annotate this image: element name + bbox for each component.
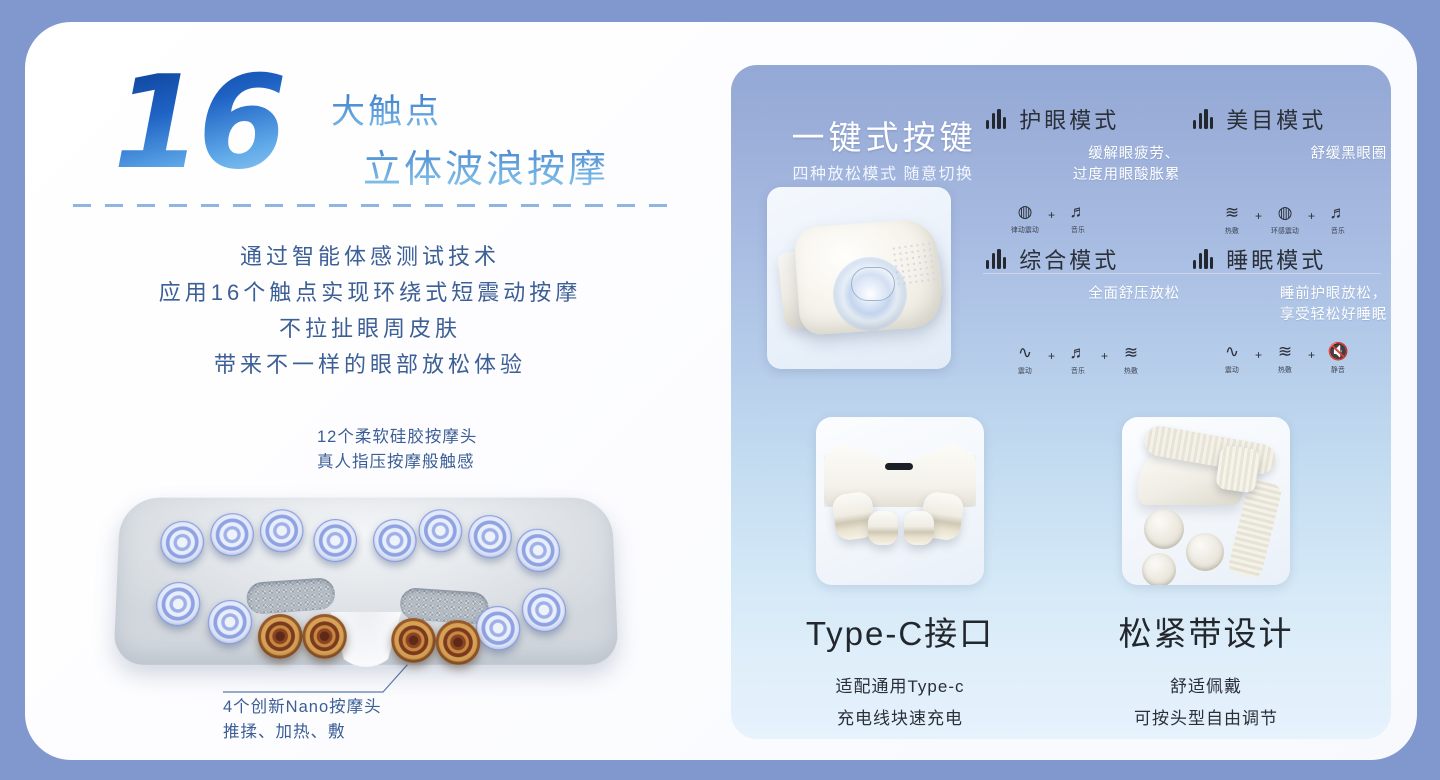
plus-separator: + bbox=[1048, 343, 1055, 366]
silicone-pad bbox=[516, 529, 561, 572]
mode-description: 缓解眼疲劳、 过度用眼酸胀累 bbox=[986, 144, 1186, 186]
feature-title: Type-C接口 bbox=[755, 607, 1045, 655]
plus-separator: + bbox=[1255, 203, 1262, 226]
feature-icon-label: 环感震动 bbox=[1271, 225, 1299, 235]
plus-separator: + bbox=[1048, 202, 1055, 225]
massage-knob bbox=[868, 511, 898, 545]
silicone-pad bbox=[160, 521, 205, 564]
vibration-icon: ∿ bbox=[1225, 342, 1239, 362]
mode-card-eye-care: 护眼模式 缓解眼疲劳、 过度用眼酸胀累 ◍ 律动震动 + ♬ bbox=[986, 103, 1186, 234]
mode-feature-icons: ◍ 律动震动 + ♬ 音乐 bbox=[986, 202, 1186, 234]
feature-icon-item: ◍ 环感震动 bbox=[1268, 203, 1302, 235]
silicone-pad bbox=[521, 588, 567, 632]
music-icon: ♬ bbox=[1330, 203, 1347, 223]
feature-icon-label: 律动震动 bbox=[1011, 224, 1039, 234]
nano-pad bbox=[258, 614, 303, 659]
headline-line2: 立体波浪按摩 bbox=[363, 138, 609, 193]
description-line-2: 应用16个触点实现环绕式短震动按摩 bbox=[25, 276, 715, 309]
feature-card-type-c: Type-C接口 适配通用Type-c 充电线块速充电 bbox=[755, 417, 1045, 735]
massage-knob bbox=[1186, 533, 1224, 571]
sound-wave-icon bbox=[986, 249, 1006, 269]
silicone-pad bbox=[207, 600, 252, 644]
mode-card-comprehensive: 综合模式 全面舒压放松 ∿ 震动 + ♬ 音乐 bbox=[986, 243, 1186, 375]
silicone-pad bbox=[210, 513, 255, 556]
sound-wave-icon bbox=[1193, 249, 1213, 269]
mode-desc-line: 全面舒压放松 bbox=[986, 284, 1180, 305]
sound-wave-icon bbox=[1193, 109, 1213, 129]
silicone-pad bbox=[468, 515, 513, 558]
feature-desc-line: 充电线块速充电 bbox=[755, 703, 1045, 735]
description-block: 通过智能体感测试技术 应用16个触点实现环绕式短震动按摩 不拉扯眼周皮肤 带来不… bbox=[25, 240, 715, 384]
mask-vent-left bbox=[246, 577, 336, 615]
description-line-3: 不拉扯眼周皮肤 bbox=[25, 312, 715, 345]
mode-description: 舒缓黑眼圈 bbox=[1193, 144, 1391, 165]
feature-icon-item: ≋ 热敷 bbox=[1114, 343, 1148, 375]
mode-feature-icons: ∿ 震动 + ≋ 热敷 + 🔇 静音 bbox=[1193, 342, 1391, 374]
mode-feature-icons: ∿ 震动 + ♬ 音乐 + ≋ 热敷 bbox=[986, 343, 1186, 375]
callout-nano-line2: 推揉、加热、敷 bbox=[223, 720, 382, 745]
music-icon: ♬ bbox=[1070, 343, 1087, 363]
description-line-4: 带来不一样的眼部放松体验 bbox=[25, 348, 715, 381]
massage-knob bbox=[904, 511, 934, 545]
silicone-pad bbox=[260, 509, 304, 552]
feature-icon-label: 震动 bbox=[1018, 365, 1032, 375]
feature-title: 松紧带设计 bbox=[1061, 607, 1351, 655]
mode-description: 睡前护眼放松， 享受轻松好睡眠 bbox=[1193, 284, 1391, 326]
feature-desc-line: 可按头型自由调节 bbox=[1061, 703, 1351, 735]
feature-icon-label: 音乐 bbox=[1071, 365, 1085, 375]
callout-nano-heads: 4个创新Nano按摩头 推揉、加热、敷 bbox=[223, 695, 382, 745]
heat-icon: ≋ bbox=[1124, 343, 1138, 363]
mode-desc-line: 睡前护眼放松， bbox=[1193, 284, 1387, 305]
eye-massager-product-image bbox=[117, 490, 617, 680]
feature-card-elastic-strap: 松紧带设计 舒适佩戴 可按头型自由调节 bbox=[1061, 417, 1351, 735]
music-icon: ♬ bbox=[1070, 202, 1087, 222]
silicone-pad bbox=[155, 582, 201, 626]
mode-name: 睡眠模式 bbox=[1226, 243, 1326, 275]
device-front-photo bbox=[767, 187, 951, 369]
feature-icon-item: ≋ 热敷 bbox=[1215, 203, 1249, 235]
type-c-photo bbox=[816, 417, 984, 585]
mode-name: 美目模式 bbox=[1226, 103, 1326, 135]
silicone-pad bbox=[418, 509, 462, 552]
vibration-icon: ∿ bbox=[1018, 343, 1032, 363]
surround-vibration-icon: ◍ bbox=[1278, 203, 1293, 223]
plus-separator: + bbox=[1308, 203, 1315, 226]
nano-pad bbox=[391, 618, 436, 663]
plus-separator: + bbox=[1308, 342, 1315, 365]
infographic-page: 16 大触点 立体波浪按摩 通过智能体感测试技术 应用16个触点实现环绕式短震动… bbox=[0, 0, 1440, 780]
mode-description: 全面舒压放松 bbox=[986, 284, 1186, 305]
feature-desc-line: 舒适佩戴 bbox=[1061, 671, 1351, 703]
modes-grid: 护眼模式 缓解眼疲劳、 过度用眼酸胀累 ◍ 律动震动 + ♬ bbox=[981, 95, 1381, 385]
mode-header: 美目模式 bbox=[1193, 103, 1391, 135]
mode-card-beauty-eye: 美目模式 舒缓黑眼圈 ≋ 热敷 + ◍ 环感震动 bbox=[1193, 103, 1391, 235]
feature-icon-label: 热敷 bbox=[1278, 364, 1292, 374]
feature-icon-item: ♬ 音乐 bbox=[1061, 202, 1095, 234]
mode-name: 护眼模式 bbox=[1019, 103, 1119, 135]
strap-buckle bbox=[1215, 444, 1261, 493]
silicone-pad bbox=[475, 606, 520, 651]
mode-desc-line: 缓解眼疲劳、 bbox=[986, 144, 1180, 165]
plus-separator: + bbox=[1101, 343, 1108, 366]
dashed-divider bbox=[73, 204, 673, 207]
mode-header: 睡眠模式 bbox=[1193, 243, 1391, 275]
plus-separator: + bbox=[1255, 342, 1262, 365]
feature-icon-label: 震动 bbox=[1225, 364, 1239, 374]
feature-icon-label: 音乐 bbox=[1071, 224, 1085, 234]
mask-body bbox=[113, 498, 618, 665]
callout-silicone-line1: 12个柔软硅胶按摩头 bbox=[317, 425, 477, 450]
device-power-button bbox=[851, 267, 895, 301]
headline-block: 16 大触点 立体波浪按摩 bbox=[113, 54, 673, 194]
feature-icon-label: 热敷 bbox=[1225, 225, 1239, 235]
right-panel: 一键式按键 四种放松模式 随意切换 护眼模式 缓解眼疲劳、 bbox=[731, 65, 1391, 739]
feature-desc-line: 适配通用Type-c bbox=[755, 671, 1045, 703]
feature-desc: 适配通用Type-c 充电线块速充电 bbox=[755, 671, 1045, 735]
mode-desc-line: 享受轻松好睡眠 bbox=[1193, 305, 1387, 326]
heat-icon: ≋ bbox=[1225, 203, 1239, 223]
mode-name: 综合模式 bbox=[1019, 243, 1119, 275]
elastic-strap-photo bbox=[1122, 417, 1290, 585]
heat-icon: ≋ bbox=[1278, 342, 1292, 362]
feature-icon-label: 音乐 bbox=[1331, 225, 1345, 235]
mode-header: 护眼模式 bbox=[986, 103, 1186, 135]
modes-divider bbox=[983, 273, 1381, 274]
feature-icon-label: 静音 bbox=[1331, 364, 1345, 374]
left-column: 16 大触点 立体波浪按摩 通过智能体感测试技术 应用16个触点实现环绕式短震动… bbox=[25, 22, 715, 760]
mute-icon: 🔇 bbox=[1327, 342, 1348, 362]
feature-icon-item: ♬ 音乐 bbox=[1321, 203, 1355, 235]
silicone-pad bbox=[313, 519, 357, 562]
silicone-pad bbox=[373, 519, 417, 562]
feature-icon-item: ♬ 音乐 bbox=[1061, 343, 1095, 375]
callout-silicone-heads: 12个柔软硅胶按摩头 真人指压按摩般触感 bbox=[317, 425, 477, 475]
feature-icon-item: ◍ 律动震动 bbox=[1008, 202, 1042, 234]
feature-icon-label: 热敷 bbox=[1124, 365, 1138, 375]
mode-desc-line: 过度用眼酸胀累 bbox=[986, 165, 1180, 186]
feature-icon-item: ∿ 震动 bbox=[1215, 342, 1249, 374]
headline-number: 16 bbox=[113, 60, 283, 188]
main-card: 16 大触点 立体波浪按摩 通过智能体感测试技术 应用16个触点实现环绕式短震动… bbox=[25, 22, 1417, 760]
mode-feature-icons: ≋ 热敷 + ◍ 环感震动 + ♬ 音乐 bbox=[1193, 203, 1391, 235]
one-touch-subtitle: 四种放松模式 随意切换 bbox=[753, 160, 1013, 184]
feature-icon-item: ∿ 震动 bbox=[1008, 343, 1042, 375]
mode-header: 综合模式 bbox=[986, 243, 1186, 275]
feature-icon-item: 🔇 静音 bbox=[1321, 342, 1355, 374]
type-c-port-icon bbox=[885, 463, 913, 470]
massage-knob bbox=[1144, 509, 1184, 549]
rhythm-vibration-icon: ◍ bbox=[1018, 202, 1033, 222]
sound-wave-icon bbox=[986, 109, 1006, 129]
feature-icon-item: ≋ 热敷 bbox=[1268, 342, 1302, 374]
feature-desc: 舒适佩戴 可按头型自由调节 bbox=[1061, 671, 1351, 735]
headline-line1: 大触点 bbox=[331, 84, 442, 133]
nano-pad bbox=[302, 614, 347, 659]
callout-silicone-line2: 真人指压按摩般触感 bbox=[317, 450, 477, 475]
one-touch-title: 一键式按键 bbox=[759, 111, 1009, 159]
massage-knob bbox=[1142, 553, 1176, 585]
description-line-1: 通过智能体感测试技术 bbox=[25, 240, 715, 273]
nano-pad bbox=[435, 620, 480, 665]
mode-card-sleep: 睡眠模式 睡前护眼放松， 享受轻松好睡眠 ∿ 震动 + ≋ bbox=[1193, 243, 1391, 374]
mode-desc-line: 舒缓黑眼圈 bbox=[1193, 144, 1387, 165]
